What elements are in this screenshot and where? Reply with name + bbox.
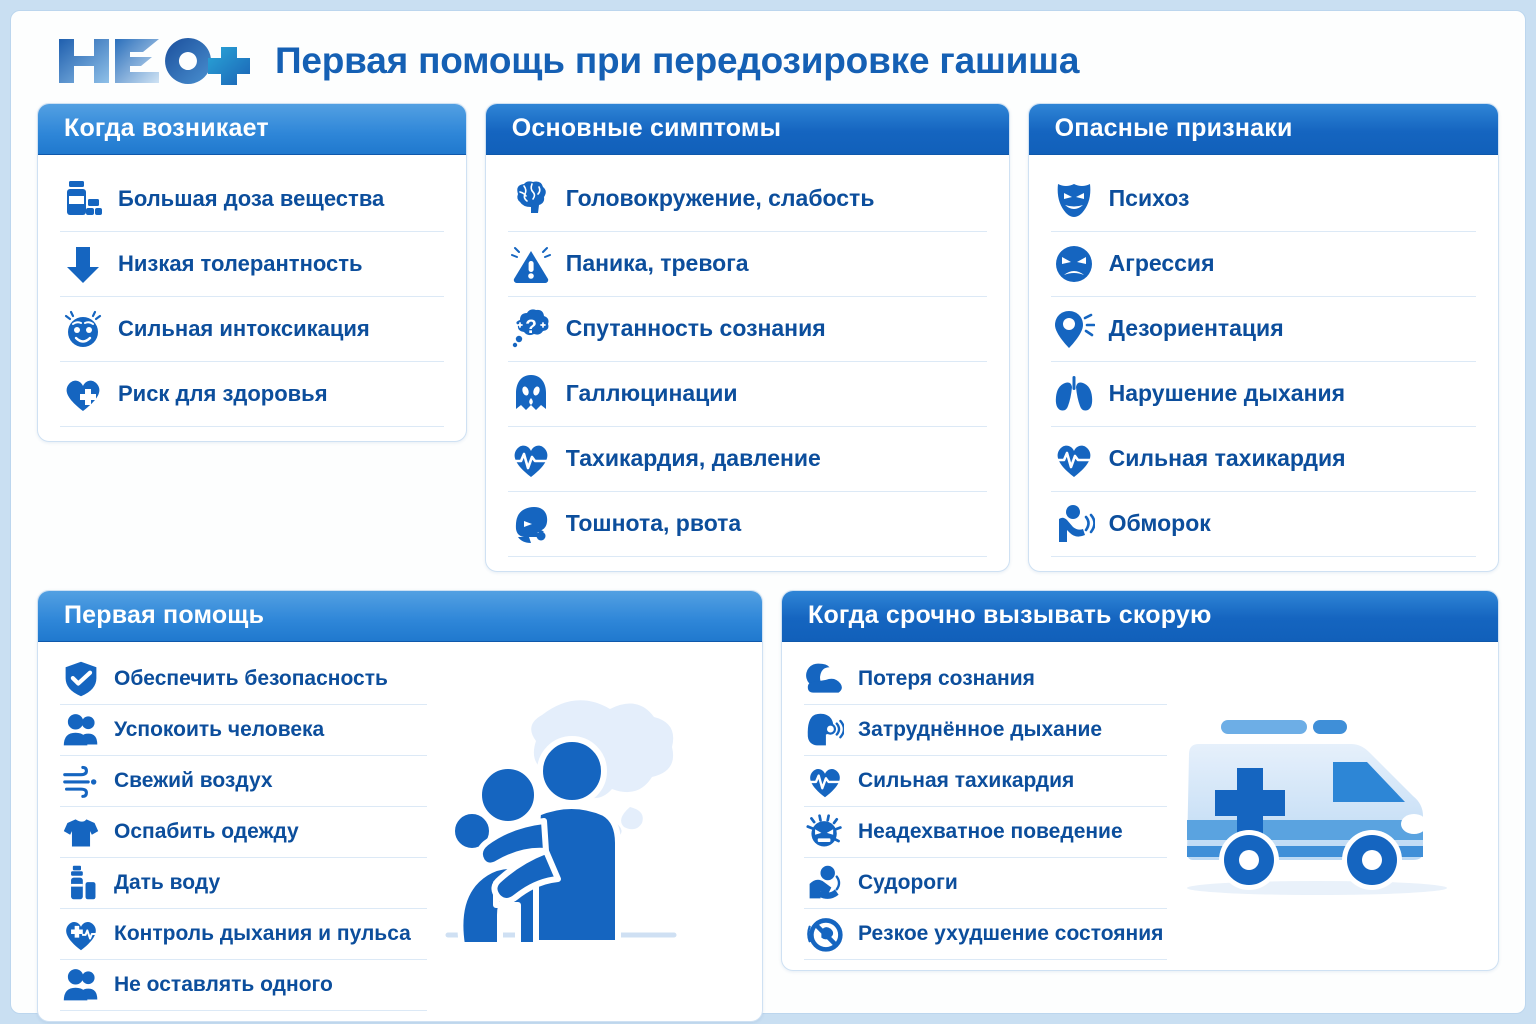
breathing-head-icon bbox=[804, 709, 846, 751]
vomiting-head-icon bbox=[508, 501, 554, 547]
list-item[interactable]: Успокоить человека bbox=[60, 705, 427, 756]
list-item-label: Тошнота, рвота bbox=[566, 511, 741, 536]
list-item-label: Паника, тревога bbox=[566, 251, 749, 276]
list-item[interactable]: Судороги bbox=[804, 858, 1167, 909]
list-item-label: Сильная интоксикация bbox=[118, 317, 370, 341]
list-item[interactable]: Потеря сознания bbox=[804, 654, 1167, 705]
ghost-icon bbox=[508, 371, 554, 417]
bottom-card-row: Первая помощь Обеспечить безопасность bbox=[37, 590, 1499, 1022]
list-item-label: Риск для здоровья bbox=[118, 382, 328, 406]
warning-triangle-icon bbox=[508, 241, 554, 287]
top-card-row: Когда возникает bbox=[37, 103, 1499, 572]
list-item[interactable]: Неадехватное поведение bbox=[804, 807, 1167, 858]
list-item[interactable]: Агрессия bbox=[1051, 232, 1476, 297]
fainting-person-icon bbox=[1051, 501, 1097, 547]
list-item-label: Головокружение, слабость bbox=[566, 186, 875, 211]
list-item-label: Большая доза вещества bbox=[118, 187, 384, 211]
list-item[interactable]: Психоз bbox=[1051, 167, 1476, 232]
lungs-icon bbox=[1051, 371, 1097, 417]
emergency-items-list: Потеря сознания Затруднённое дыхание bbox=[804, 654, 1167, 960]
heart-pulse-icon bbox=[508, 436, 554, 482]
card-danger-signs: Опасные признаки Психоз bbox=[1028, 103, 1499, 572]
danger-items-list: Психоз Агрессия bbox=[1051, 167, 1476, 557]
shield-check-icon bbox=[60, 658, 102, 700]
list-item-label: Резкое ухудшение состояния bbox=[858, 922, 1163, 945]
list-item-label: Не оставлять одного bbox=[114, 973, 333, 996]
card-title-when: Когда возникает bbox=[38, 104, 466, 155]
page-title: Первая помощь при передозировке гашиша bbox=[275, 40, 1079, 82]
neo-plus-logo bbox=[57, 35, 253, 87]
card-title-emergency: Когда срочно вызывать скорую bbox=[782, 591, 1498, 642]
brain-icon bbox=[508, 176, 554, 222]
list-item[interactable]: Дать воду bbox=[60, 858, 427, 909]
pill-bottle-icon bbox=[60, 176, 106, 222]
dizzy-face-icon bbox=[60, 306, 106, 352]
question-cloud-icon: ? bbox=[508, 306, 554, 352]
list-item[interactable]: Дезориентация bbox=[1051, 297, 1476, 362]
list-item[interactable]: Тошнота, рвота bbox=[508, 492, 987, 557]
card-title-danger: Опасные признаки bbox=[1029, 104, 1498, 155]
list-item[interactable]: Галлюцинации bbox=[508, 362, 987, 427]
symptoms-items-list: Головокружение, слабость bbox=[508, 167, 987, 557]
card-emergency-call: Когда срочно вызывать скорую Потеря созн… bbox=[781, 590, 1499, 971]
list-item[interactable]: Сильная интоксикация bbox=[60, 297, 444, 362]
list-item[interactable]: Оспабить одежду bbox=[60, 807, 427, 858]
unconscious-person-icon bbox=[804, 658, 846, 700]
location-pin-icon bbox=[1051, 306, 1097, 352]
list-item[interactable]: Свежий воздух bbox=[60, 756, 427, 807]
list-item-label: Обморок bbox=[1109, 511, 1211, 536]
two-people-icon bbox=[60, 964, 102, 1006]
list-item[interactable]: Резкое ухудшение состояния bbox=[804, 909, 1167, 960]
list-item-label: Потеря сознания bbox=[858, 667, 1035, 690]
list-item[interactable]: Обморок bbox=[1051, 492, 1476, 557]
list-item[interactable]: Сильная тахикардия bbox=[1051, 427, 1476, 492]
when-items-list: Большая доза вещества Низкая толерантнос… bbox=[60, 167, 444, 427]
infographic-page: Первая помощь при передозировке гашиша К… bbox=[10, 10, 1526, 1014]
firstaid-items-list: Обеспечить безопасность Успокоить челове… bbox=[60, 654, 427, 1011]
list-item[interactable]: Паника, тревога bbox=[508, 232, 987, 297]
two-people-icon bbox=[60, 709, 102, 751]
list-item[interactable]: Затруднённое дыхание bbox=[804, 705, 1167, 756]
list-item[interactable]: ? Спутанность сознания bbox=[508, 297, 987, 362]
evil-mask-icon bbox=[1051, 176, 1097, 222]
list-item-label: Нарушение дыхания bbox=[1109, 381, 1345, 406]
convulsion-person-icon bbox=[804, 862, 846, 904]
list-item[interactable]: Контроль дыхания и пульса bbox=[60, 909, 427, 960]
svg-text:?: ? bbox=[525, 317, 537, 338]
card-first-aid: Первая помощь Обеспечить безопасность bbox=[37, 590, 763, 1022]
list-item-label: Неадехватное поведение bbox=[858, 820, 1123, 843]
card-when-occurs: Когда возникает bbox=[37, 103, 467, 442]
list-item-label: Свежий воздух bbox=[114, 769, 273, 792]
angry-face-rays-icon bbox=[804, 811, 846, 853]
list-item-label: Оспабить одежду bbox=[114, 820, 299, 843]
card-title-symptoms: Основные симптомы bbox=[486, 104, 1009, 155]
two-people-comforting-illustration bbox=[427, 654, 740, 1011]
list-item[interactable]: Тахикардия, давление bbox=[508, 427, 987, 492]
list-item-label: Контроль дыхания и пульса bbox=[114, 922, 411, 945]
angry-face-icon bbox=[1051, 241, 1097, 287]
header-bar: Первая помощь при передозировке гашиша bbox=[37, 25, 1499, 97]
list-item-label: Сильная тахикардия bbox=[858, 769, 1074, 792]
heart-cross-icon bbox=[60, 371, 106, 417]
list-item[interactable]: Сильная тахикардия bbox=[804, 756, 1167, 807]
no-entry-icon bbox=[804, 913, 846, 955]
water-bottle-icon bbox=[60, 862, 102, 904]
card-main-symptoms: Основные симптомы bbox=[485, 103, 1010, 572]
list-item[interactable]: Риск для здоровья bbox=[60, 362, 444, 427]
list-item-label: Дать воду bbox=[114, 871, 220, 894]
tshirt-icon bbox=[60, 811, 102, 853]
heart-pulse-icon bbox=[804, 760, 846, 802]
list-item[interactable]: Нарушение дыхания bbox=[1051, 362, 1476, 427]
list-item-label: Агрессия bbox=[1109, 251, 1215, 276]
list-item-label: Галлюцинации bbox=[566, 381, 738, 406]
list-item-label: Судороги bbox=[858, 871, 958, 894]
list-item[interactable]: Не оставлять одного bbox=[60, 960, 427, 1011]
list-item[interactable]: Обеспечить безопасность bbox=[60, 654, 427, 705]
heart-pulse-icon bbox=[1051, 436, 1097, 482]
list-item-label: Тахикардия, давление bbox=[566, 446, 821, 471]
heart-cross-pulse-icon bbox=[60, 913, 102, 955]
list-item-label: Спутанность сознания bbox=[566, 316, 826, 341]
list-item-label: Успокоить человека bbox=[114, 718, 324, 741]
list-item-label: Затруднённое дыхание bbox=[858, 718, 1102, 741]
list-item-label: Обеспечить безопасность bbox=[114, 667, 388, 690]
wind-icon bbox=[60, 760, 102, 802]
list-item-label: Психоз bbox=[1109, 186, 1190, 211]
list-item[interactable]: Головокружение, слабость bbox=[508, 167, 987, 232]
list-item[interactable]: Большая доза вещества bbox=[60, 167, 444, 232]
ambulance-illustration bbox=[1167, 654, 1477, 960]
down-arrow-icon bbox=[60, 241, 106, 287]
list-item-label: Сильная тахикардия bbox=[1109, 446, 1346, 471]
card-title-firstaid: Первая помощь bbox=[38, 591, 762, 642]
list-item[interactable]: Низкая толерантность bbox=[60, 232, 444, 297]
list-item-label: Низкая толерантность bbox=[118, 252, 363, 276]
list-item-label: Дезориентация bbox=[1109, 316, 1284, 341]
